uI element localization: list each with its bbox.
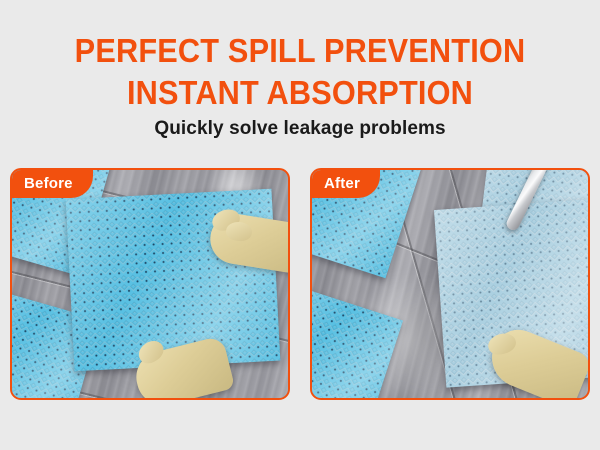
before-photo bbox=[12, 170, 288, 398]
before-panel: Before bbox=[10, 168, 290, 400]
promo-header: PERFECT SPILL PREVENTION INSTANT ABSORPT… bbox=[0, 0, 600, 160]
after-badge: After bbox=[312, 170, 380, 198]
after-panel: After bbox=[310, 168, 590, 400]
subtitle: Quickly solve leakage problems bbox=[0, 118, 600, 140]
before-badge: Before bbox=[12, 170, 93, 198]
headline-line-2: INSTANT ABSORPTION bbox=[21, 76, 579, 109]
after-photo bbox=[312, 170, 588, 398]
headline-line-1: PERFECT SPILL PREVENTION bbox=[21, 34, 579, 67]
